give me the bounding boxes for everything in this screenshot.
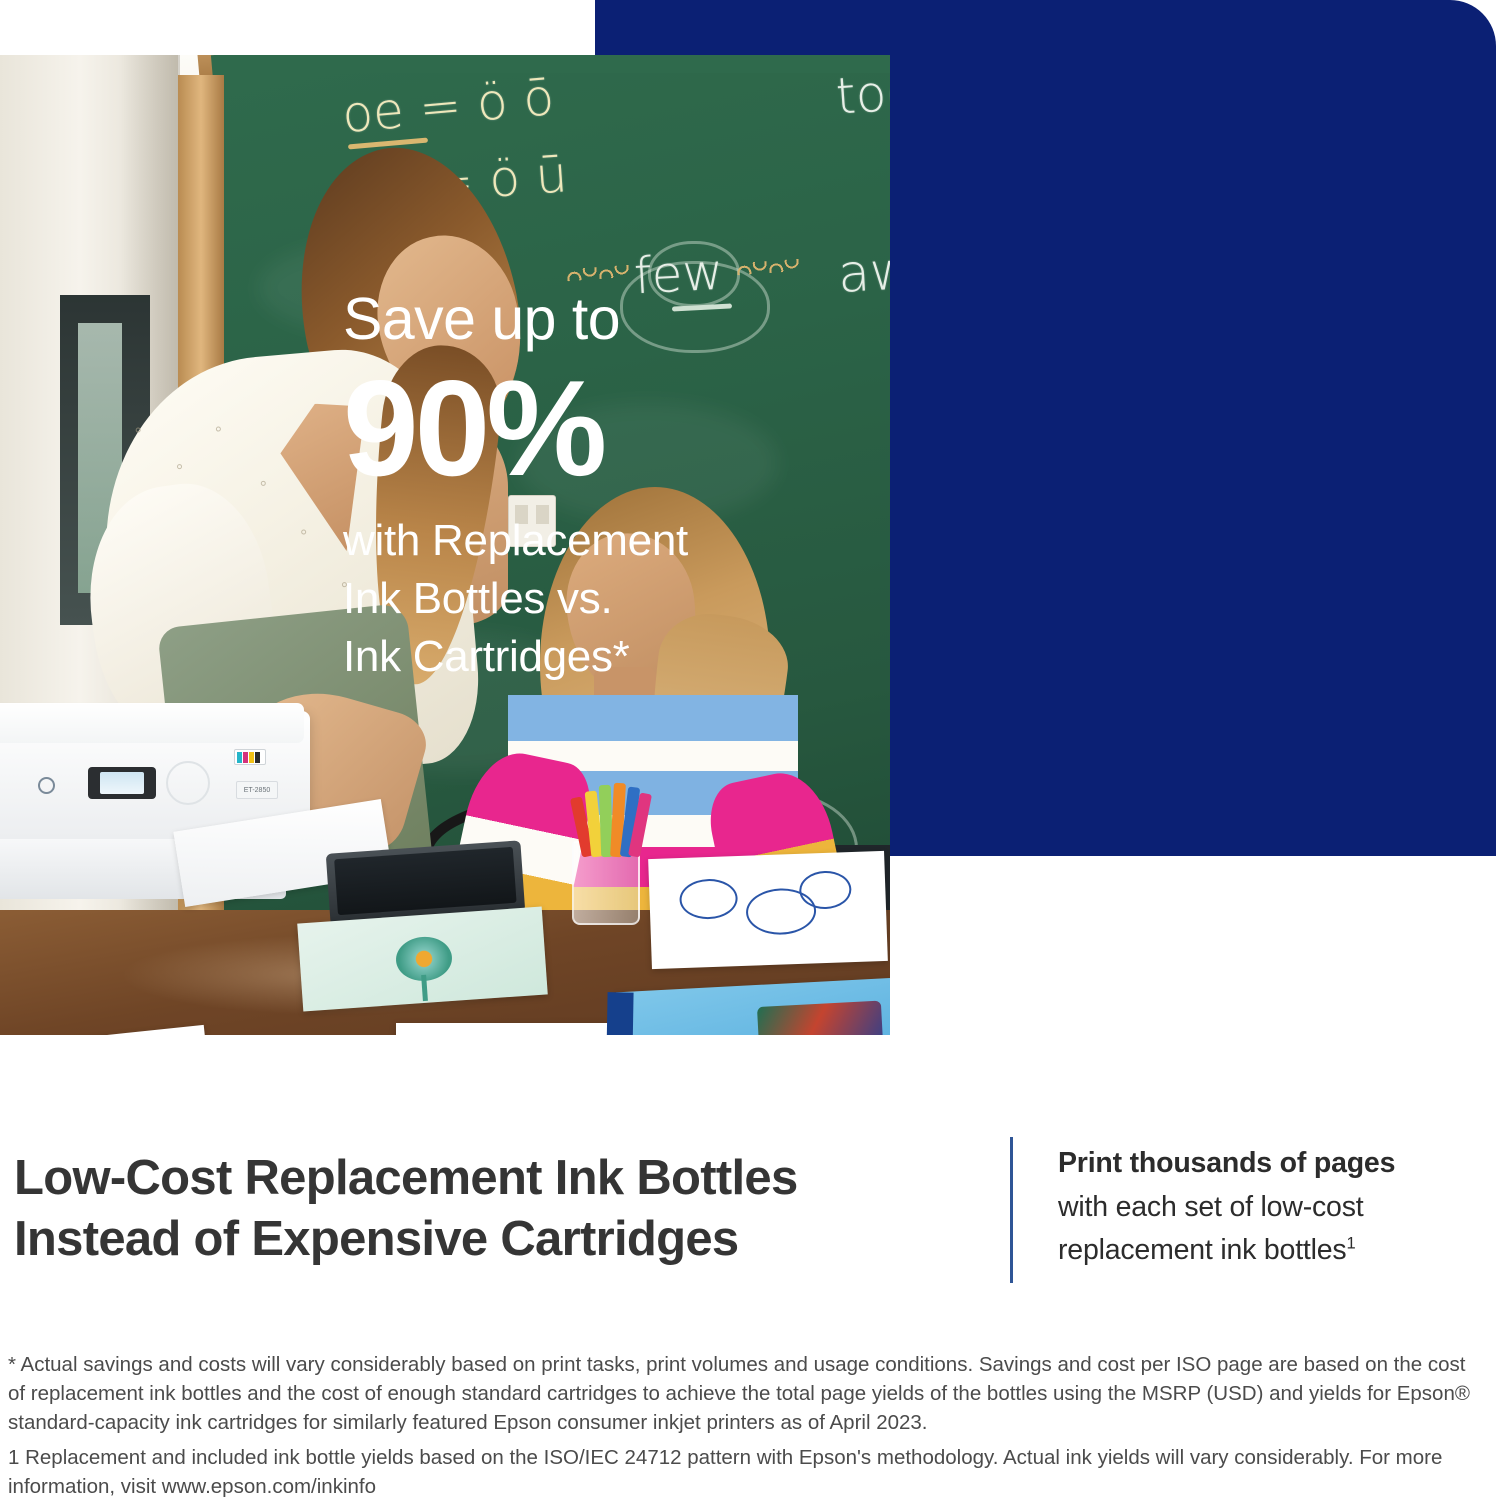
hero-banner: oe = ö ō ew = ö ū few toe aw bbox=[0, 0, 1496, 1060]
girl-stripe-1 bbox=[508, 695, 798, 741]
side-callout-line-2: with each set of low-cost bbox=[1058, 1186, 1478, 1229]
side-callout-bold: Print thousands of pages bbox=[1058, 1149, 1478, 1178]
printer-display bbox=[88, 767, 156, 799]
footnote-one: 1 Replacement and included ink bottle yi… bbox=[8, 1443, 1486, 1501]
chalk-line-toe: toe bbox=[834, 62, 890, 126]
printer-control-pad bbox=[166, 761, 210, 805]
promo-sub-line-1: with Replacement bbox=[343, 512, 813, 570]
chalk-line-aw: aw bbox=[836, 241, 890, 305]
promo-subtext: with Replacement Ink Bottles vs. Ink Car… bbox=[343, 512, 813, 686]
artwork-marker-drawing bbox=[648, 851, 888, 969]
main-headline: Low-Cost Replacement Ink Bottles Instead… bbox=[14, 1148, 964, 1270]
promo-copy: Save up to 90% with Replacement Ink Bott… bbox=[343, 290, 813, 686]
promo-sub-line-3: Ink Cartridges* bbox=[343, 628, 813, 686]
artwork-flower bbox=[297, 907, 548, 1012]
printer-power-button bbox=[38, 777, 55, 794]
footnote-asterisk: * Actual savings and costs will vary con… bbox=[8, 1350, 1486, 1437]
artwork-whale-print bbox=[396, 1023, 628, 1035]
side-callout: Print thousands of pages with each set o… bbox=[1058, 1149, 1478, 1272]
printer-model-label: ET-2850 bbox=[236, 781, 278, 799]
footnote-marker-1: 1 bbox=[1346, 1233, 1355, 1252]
side-callout-line-3-text: replacement ink bottles bbox=[1058, 1234, 1346, 1266]
headline-line-1: Low-Cost Replacement Ink Bottles bbox=[14, 1148, 964, 1209]
side-callout-line-3: replacement ink bottles1 bbox=[1058, 1229, 1478, 1272]
printer-lid bbox=[0, 703, 304, 743]
promo-line-1: Save up to bbox=[343, 290, 813, 349]
printer-ink-indicator bbox=[234, 749, 266, 765]
side-callout-body: with each set of low-cost replacement in… bbox=[1058, 1186, 1478, 1273]
promo-sub-line-2: Ink Bottles vs. bbox=[343, 570, 813, 628]
headline-line-2: Instead of Expensive Cartridges bbox=[14, 1209, 964, 1270]
promo-percent: 90% bbox=[343, 355, 813, 502]
vertical-divider bbox=[1010, 1137, 1013, 1283]
